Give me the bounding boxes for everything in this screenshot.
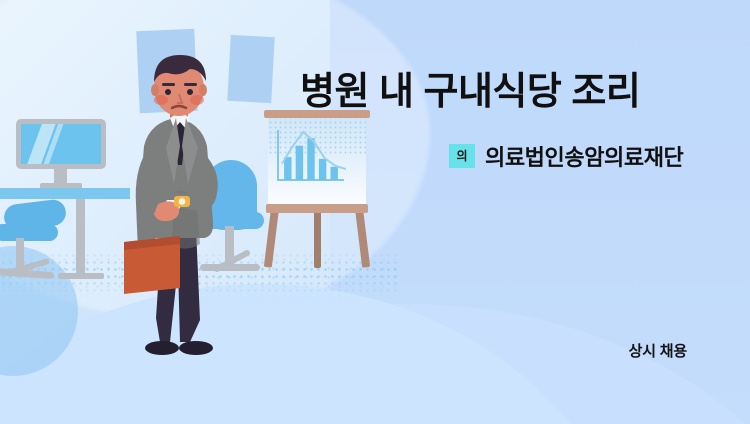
eyebrow-right xyxy=(184,83,197,86)
job-posting-banner: 병원 내 구내식당 조리 의 의료법인송암의료재단 상시 채용 xyxy=(0,0,750,424)
bar-chart-graphic xyxy=(274,128,346,190)
ear-left xyxy=(151,84,159,96)
desk-top xyxy=(0,188,130,199)
chart-bar xyxy=(307,138,314,180)
cheek-right xyxy=(190,95,204,105)
hiring-status-label: 상시 채용 xyxy=(629,340,687,361)
organization-name: 의료법인송암의료재단 xyxy=(485,140,683,172)
eye-right xyxy=(187,89,193,95)
chart-bar xyxy=(330,167,337,180)
desk-leg xyxy=(76,199,85,277)
chart-bar xyxy=(296,146,303,180)
easel-tray xyxy=(266,204,368,213)
eyebrow-left xyxy=(162,83,175,86)
chair-seat xyxy=(0,224,58,241)
ear-right xyxy=(199,84,207,96)
cheek-left xyxy=(154,95,168,105)
page-title: 병원 내 구내식당 조리 xyxy=(300,70,700,116)
chart-bar xyxy=(284,157,291,180)
businessman-checking-watch xyxy=(122,52,240,370)
watch-face xyxy=(179,198,186,205)
monitor-icon xyxy=(16,119,106,169)
chart-bar xyxy=(319,159,326,180)
organization-row: 의 의료법인송암의료재단 xyxy=(449,140,683,172)
flipchart-easel xyxy=(258,108,378,268)
eye-left xyxy=(165,89,171,95)
organization-badge: 의 xyxy=(449,144,475,168)
chart-bars xyxy=(284,138,338,180)
desk-foot xyxy=(58,273,104,279)
